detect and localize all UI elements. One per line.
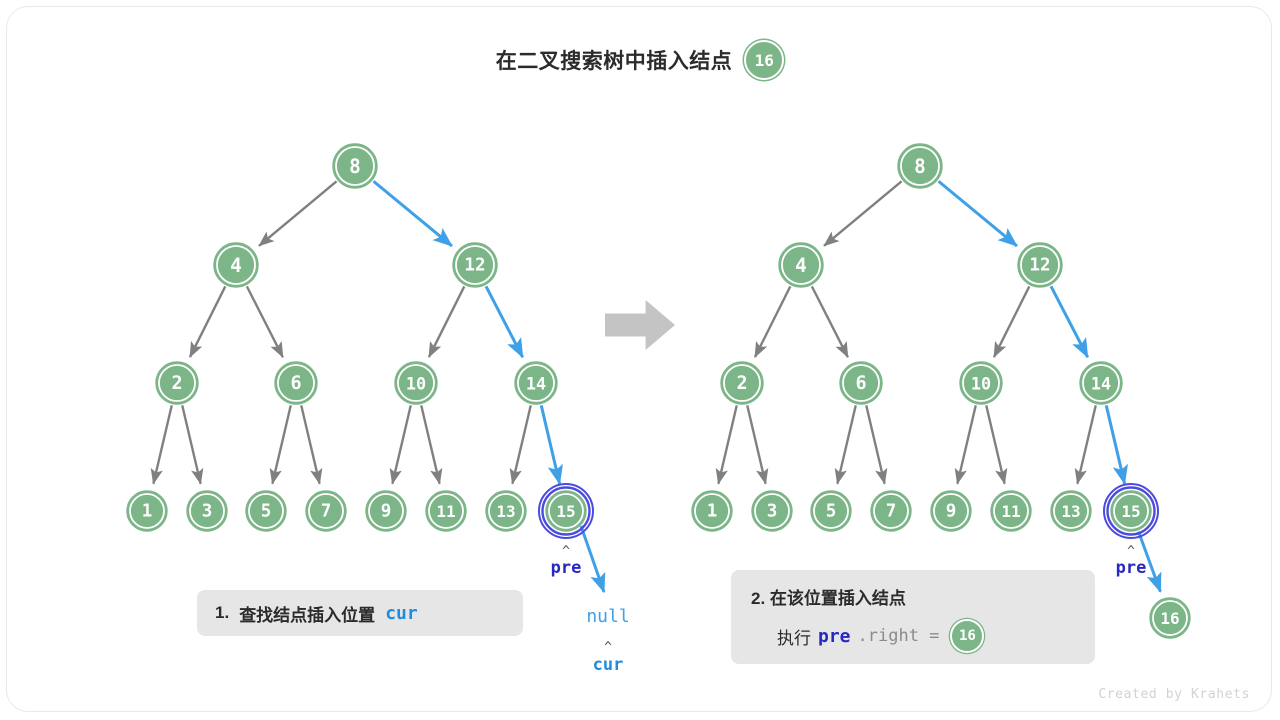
cur-caret-left: ^ [604,640,612,655]
caption-1-number: 1. [215,603,229,623]
caption-1-var-cur: cur [385,603,418,624]
caption-2-text: 在该位置插入结点 [770,589,906,608]
caption-2-var-pre: pre [818,626,851,647]
title-node-badge: 16 [744,40,784,80]
diagram-canvas: 在二叉搜索树中插入结点 16 8412261014135791113158412… [0,0,1280,720]
page-title: 在二叉搜索树中插入结点 16 [0,40,1280,80]
pre-caret-right: ^ [1127,544,1135,559]
null-label-left: null [586,606,629,627]
caption-step-2: 2. 在该位置插入结点 执行 pre .right = 16 [731,570,1095,664]
caption-2-line1: 2. 在该位置插入结点 [751,584,1095,609]
caption-2-line2: 执行 pre .right = 16 [751,619,1095,653]
caption-2-number: 2. [751,589,765,608]
caption-2-code: .right = [858,626,940,646]
cur-label-left: cur [593,655,624,675]
pre-label-left: pre [551,558,582,578]
caption-2-prefix: 执行 [777,624,811,649]
pre-label-right: pre [1116,558,1147,578]
caption-1-text: 查找结点插入位置 [239,601,375,626]
caption-step-1: 1. 查找结点插入位置 cur [197,590,523,636]
caption-2-node-badge: 16 [950,619,984,653]
pre-caret-left: ^ [562,544,570,559]
credit-text: Created by Krahets [1098,687,1250,702]
page-title-text: 在二叉搜索树中插入结点 [496,45,733,75]
